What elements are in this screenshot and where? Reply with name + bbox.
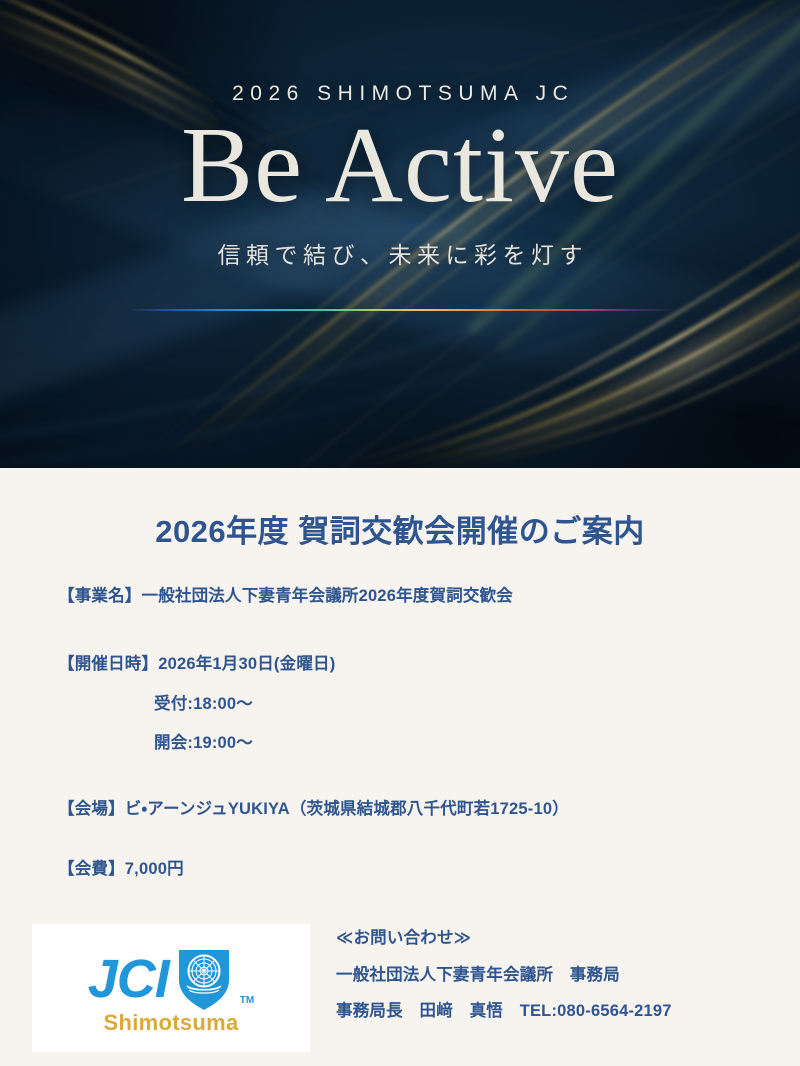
event-details-list: 【事業名】一般社団法人下妻青年会議所2026年度賀詞交歓会 【開催日時】2026… [0, 587, 800, 880]
trademark-symbol: TM [240, 995, 254, 1006]
jci-shimotsuma-logo: JCI TM [32, 924, 310, 1052]
jci-wordmark: JCI [88, 955, 169, 1004]
detail-session-name: 【事業名】一般社団法人下妻青年会議所2026年度賀詞交歓会 [58, 587, 800, 607]
hero-title: Be Active [0, 112, 800, 220]
detail-datetime: 【開催日時】2026年1月30日(金曜日) [58, 655, 800, 675]
logo-chapter-name: Shimotsuma [103, 1010, 238, 1036]
contact-organization: 一般社団法人下妻青年会議所 事務局 [336, 967, 672, 984]
jci-shield-un-emblem-icon [175, 946, 233, 1012]
hero-tagline: 信頼で結び、未来に彩を灯す [0, 236, 800, 270]
detail-opening-time: 開会:19:00〜 [58, 734, 800, 754]
hero-banner: 2026 SHIMOTSUMA JC Be Active 信頼で結び、未来に彩を… [0, 0, 800, 468]
detail-fee: 【会費】7,000円 [58, 860, 800, 880]
rainbow-divider [128, 309, 680, 311]
contact-block: ≪お問い合わせ≫ 一般社団法人下妻青年会議所 事務局 事務局長 田﨑 真悟 TE… [336, 930, 672, 1020]
hero-eyebrow: 2026 SHIMOTSUMA JC [0, 82, 800, 106]
page-title: 2026年度 賀詞交歓会開催のご案内 [0, 468, 800, 551]
logo-wordmark-row: JCI TM [88, 946, 255, 1012]
hero-text-group: 2026 SHIMOTSUMA JC Be Active 信頼で結び、未来に彩を… [0, 82, 800, 270]
contact-heading: ≪お問い合わせ≫ [336, 930, 672, 947]
footer: JCI TM [0, 916, 800, 1066]
detail-reception-time: 受付:18:00〜 [58, 695, 800, 715]
event-details-section: 2026年度 賀詞交歓会開催のご案内 【事業名】一般社団法人下妻青年会議所202… [0, 468, 800, 1066]
detail-venue: 【会場】ビ・アーンジュYUKIYA（茨城県結城郡八千代町若1725-10） [58, 800, 800, 820]
contact-person-and-phone: 事務局長 田﨑 真悟 TEL:080-6564-2197 [336, 1003, 672, 1020]
